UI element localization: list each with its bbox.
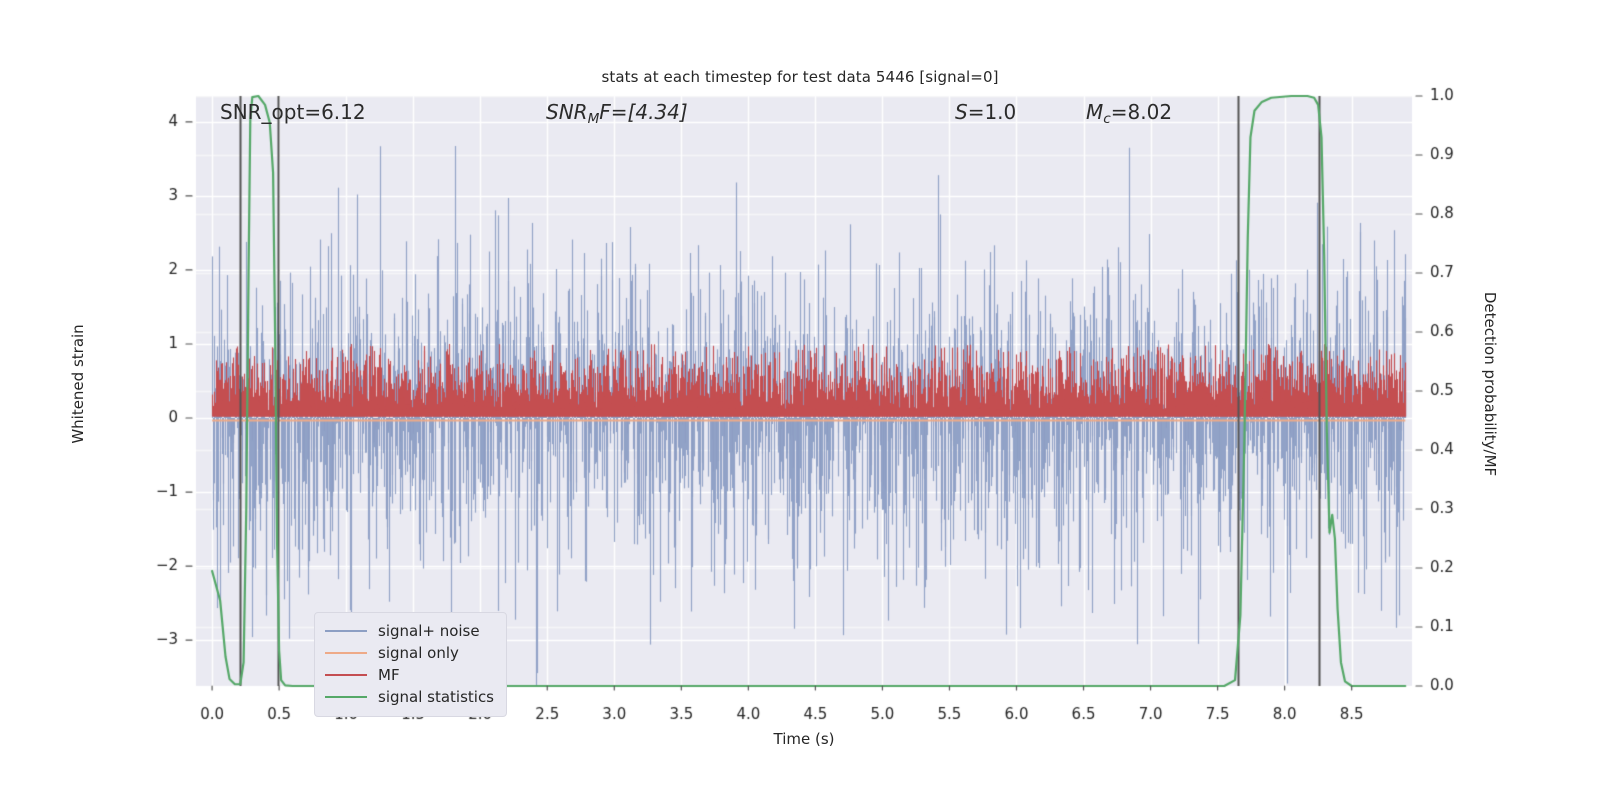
legend-color-swatch [325, 630, 367, 632]
figure-container: stats at each timestep for test data 544… [0, 0, 1600, 800]
legend-color-swatch [325, 696, 367, 698]
legend-color-swatch [325, 652, 367, 654]
legend-item-label: signal+ noise [378, 620, 480, 642]
legend-item-label: signal statistics [378, 686, 494, 708]
chart-legend: signal+ noisesignal onlyMFsignal statist… [314, 612, 507, 717]
legend-color-swatch [325, 674, 367, 676]
legend-item[interactable]: signal only [325, 642, 494, 664]
plot-canvas [0, 0, 1600, 800]
legend-item-label: MF [378, 664, 400, 686]
legend-item-label: signal only [378, 642, 459, 664]
legend-item[interactable]: signal statistics [325, 686, 494, 708]
legend-item[interactable]: MF [325, 664, 494, 686]
legend-item[interactable]: signal+ noise [325, 620, 494, 642]
